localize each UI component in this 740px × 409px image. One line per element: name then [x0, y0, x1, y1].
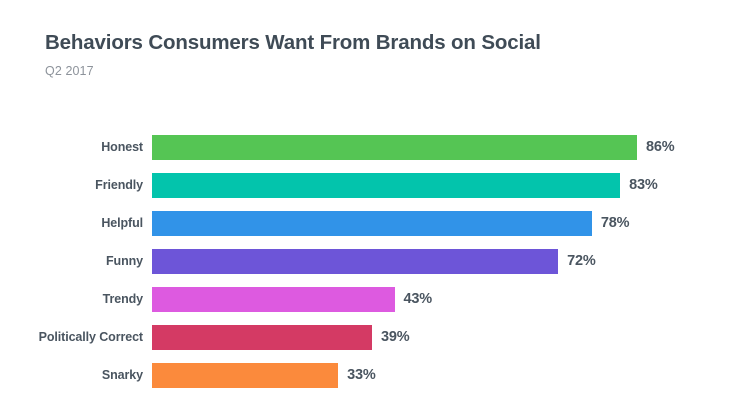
bar-value-label: 72% — [567, 253, 595, 269]
bar-category-label: Politically Correct — [0, 330, 152, 344]
bar-funny[interactable] — [152, 249, 558, 274]
bar-row: Honest86% — [0, 128, 740, 166]
bar-value-label: 86% — [646, 139, 674, 155]
bar-track: 86% — [152, 128, 740, 166]
bar-category-label: Honest — [0, 140, 152, 154]
chart-header: Behaviors Consumers Want From Brands on … — [45, 30, 705, 79]
bar-trendy[interactable] — [152, 287, 395, 312]
bar-row: Friendly83% — [0, 166, 740, 204]
chart-subtitle: Q2 2017 — [45, 63, 705, 79]
bar-helpful[interactable] — [152, 211, 592, 236]
bar-track: 78% — [152, 204, 740, 242]
bar-honest[interactable] — [152, 135, 637, 160]
bar-value-label: 33% — [347, 367, 375, 383]
bar-row: Funny72% — [0, 242, 740, 280]
bar-track: 39% — [152, 318, 740, 356]
bar-row: Snarky33% — [0, 356, 740, 394]
bar-chart-plot-area: Honest86%Friendly83%Helpful78%Funny72%Tr… — [0, 128, 740, 409]
bar-category-label: Helpful — [0, 216, 152, 230]
bar-track: 33% — [152, 356, 740, 394]
bar-value-label: 43% — [404, 291, 432, 307]
bar-row: Trendy43% — [0, 280, 740, 318]
bar-category-label: Friendly — [0, 178, 152, 192]
bar-value-label: 83% — [629, 177, 657, 193]
bar-category-label: Trendy — [0, 292, 152, 306]
bar-category-label: Funny — [0, 254, 152, 268]
bar-row: Politically Correct39% — [0, 318, 740, 356]
bar-friendly[interactable] — [152, 173, 620, 198]
chart-page: Behaviors Consumers Want From Brands on … — [0, 0, 740, 409]
bar-value-label: 78% — [601, 215, 629, 231]
bar-value-label: 39% — [381, 329, 409, 345]
bar-track: 43% — [152, 280, 740, 318]
bar-track: 72% — [152, 242, 740, 280]
bar-track: 83% — [152, 166, 740, 204]
bar-row: Helpful78% — [0, 204, 740, 242]
bar-snarky[interactable] — [152, 363, 338, 388]
bar-politically-correct[interactable] — [152, 325, 372, 350]
chart-title: Behaviors Consumers Want From Brands on … — [45, 30, 705, 56]
bar-category-label: Snarky — [0, 368, 152, 382]
